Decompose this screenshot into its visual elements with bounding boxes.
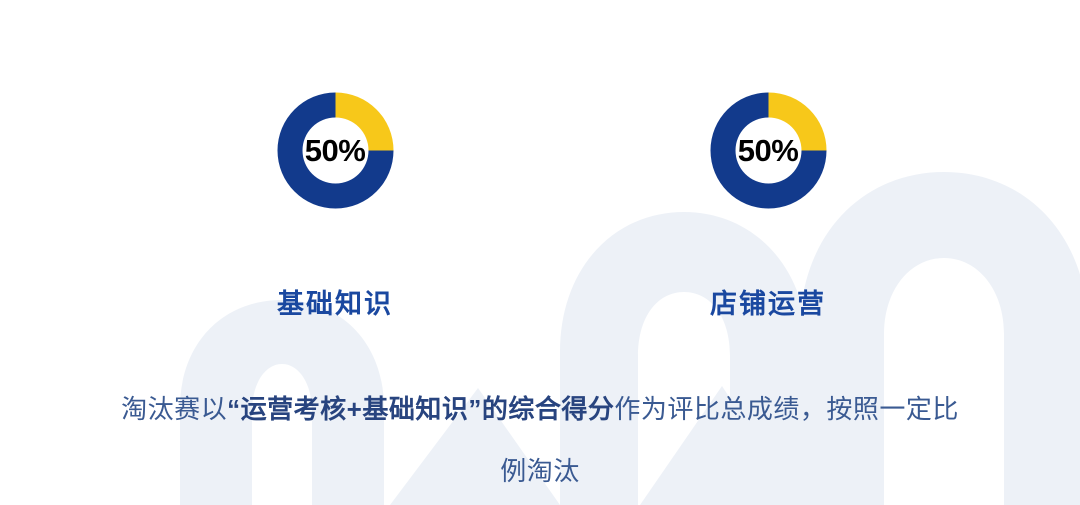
- caption-text-quoted: “运营考核+基础知识”: [227, 394, 482, 424]
- caption-paragraph: 淘汰赛以“运营考核+基础知识”的综合得分作为评比总成绩，按照一定比 例淘汰: [0, 378, 1080, 502]
- caption-line-1: 淘汰赛以“运营考核+基础知识”的综合得分作为评比总成绩，按照一定比: [0, 378, 1080, 440]
- metric-label-basic-knowledge: 基础知识: [185, 291, 485, 318]
- metric-card-basic-knowledge: 50% 基础知识: [185, 92, 485, 318]
- metric-label-store-operations: 店铺运营: [618, 291, 918, 318]
- donut-chart-basic-knowledge: 50%: [277, 92, 394, 209]
- caption-text-intro: 淘汰赛以: [121, 394, 227, 424]
- donut-center-value-store-operations: 50%: [710, 92, 827, 209]
- caption-text-continued: 例淘汰: [500, 456, 580, 486]
- metric-card-store-operations: 50% 店铺运营: [618, 92, 918, 318]
- caption-text-tail: 作为评比总成绩，按照一定比: [614, 394, 959, 424]
- caption-line-2: 例淘汰: [0, 440, 1080, 502]
- donut-chart-store-operations: 50%: [710, 92, 827, 209]
- slide-canvas: 50% 基础知识 50% 店铺运营 淘汰赛以“运营考核+基础知识”的综合得分作为…: [0, 0, 1080, 505]
- caption-text-score: 的综合得分: [482, 394, 615, 424]
- donut-center-value-basic-knowledge: 50%: [277, 92, 394, 209]
